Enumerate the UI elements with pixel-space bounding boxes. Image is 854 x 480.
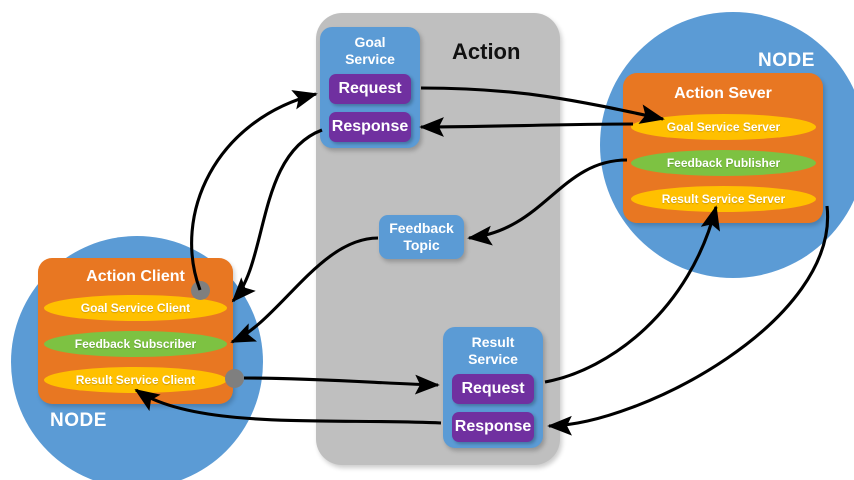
result-service-response-box[interactable]: Response xyxy=(452,412,534,442)
server-pill-feedback-publisher[interactable]: Feedback Publisher xyxy=(631,150,816,176)
result-service-title-line2: Service xyxy=(443,351,543,368)
client-goal-connector-dot xyxy=(191,281,210,300)
client-pill-result-service-client[interactable]: Result Service Client xyxy=(44,367,227,393)
goal-service-title-line1: Goal xyxy=(320,34,420,51)
result-service-request-box[interactable]: Request xyxy=(452,374,534,404)
client-result-connector-dot xyxy=(225,369,244,388)
server-pill-result-service-server[interactable]: Result Service Server xyxy=(631,186,816,212)
goal-service-response-box[interactable]: Response xyxy=(329,112,411,142)
goal-service-title-line2: Service xyxy=(320,51,420,68)
result-service-box: Result Service Request Response xyxy=(443,327,543,448)
goal-service-box: Goal Service Request Response xyxy=(320,27,420,148)
client-node-label: NODE xyxy=(50,410,107,432)
action-server-title: Action Sever xyxy=(623,85,823,103)
feedback-topic-line2: Topic xyxy=(403,237,439,254)
feedback-topic-line1: Feedback xyxy=(389,220,454,237)
server-node-label: NODE xyxy=(758,50,815,72)
action-server-box: Action Sever Goal Service Server Feedbac… xyxy=(623,73,823,223)
action-panel-label: Action xyxy=(452,39,520,65)
goal-service-request-box[interactable]: Request xyxy=(329,74,411,104)
action-diagram-canvas: Action NODE Action Sever Goal Service Se… xyxy=(0,0,854,480)
client-pill-feedback-subscriber[interactable]: Feedback Subscriber xyxy=(44,331,227,357)
result-service-title-line1: Result xyxy=(443,334,543,351)
server-pill-goal-service-server[interactable]: Goal Service Server xyxy=(631,114,816,140)
feedback-topic-box[interactable]: Feedback Topic xyxy=(379,215,464,259)
action-client-box: Action Client Goal Service Client Feedba… xyxy=(38,258,233,404)
arrow-goal-response-to-goal-client xyxy=(233,130,322,301)
